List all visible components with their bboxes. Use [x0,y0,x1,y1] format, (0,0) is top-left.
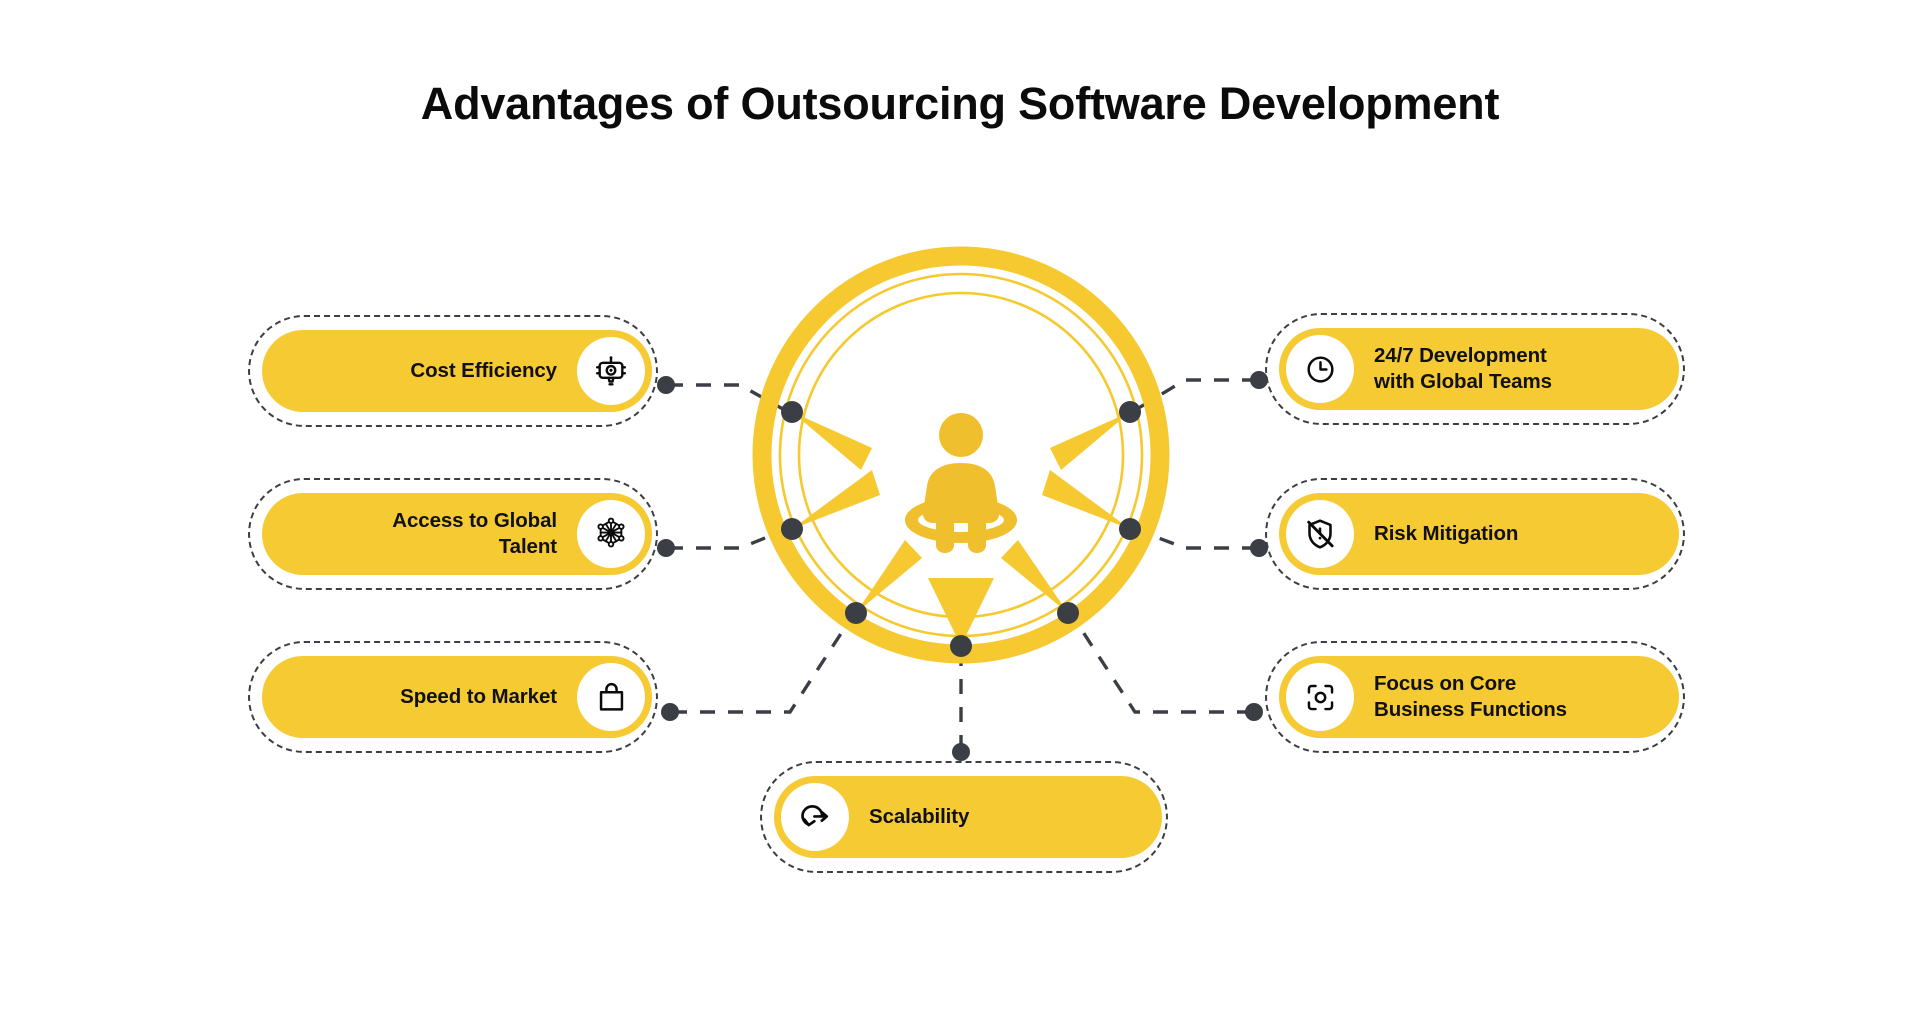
hub-node-dot [845,602,867,624]
node-label: Speed to Market [262,684,577,710]
infographic-canvas: Advantages of Outsourcing Software Devel… [0,0,1920,1011]
robot-automation-icon [577,337,645,405]
node-focus-on-core-business-functions[interactable]: Focus on Core Business Functions [1279,656,1679,738]
notch-marker [1001,540,1068,613]
clock-icon [1286,335,1354,403]
node-scalability[interactable]: Scalability [774,776,1162,858]
node-label: Access to Global Talent [262,508,577,560]
hub-node-dot [950,635,972,657]
endpoint-dot [657,376,675,394]
person-in-circle-icon [905,413,1017,553]
node-risk-mitigation[interactable]: Risk Mitigation [1279,493,1679,575]
node-label: Scalability [849,804,1162,830]
node-cost-efficiency[interactable]: Cost Efficiency [262,330,652,412]
node-speed-to-market[interactable]: Speed to Market [262,656,652,738]
endpoint-dot [657,539,675,557]
hub-node-dot [781,401,803,423]
hub-node-dot [1057,602,1079,624]
focus-scan-icon [1286,663,1354,731]
shopping-bag-icon [577,663,645,731]
endpoint-dot [952,743,970,761]
hub-node-dot [1119,518,1141,540]
node-label: Cost Efficiency [262,358,577,384]
node-label: 24/7 Development with Global Teams [1354,343,1679,395]
shield-alert-off-icon [1286,500,1354,568]
node-label: Focus on Core Business Functions [1354,671,1679,723]
connector-speed-to-market [672,612,855,712]
hub-node-dot [1119,401,1141,423]
expand-arrow-icon [781,783,849,851]
notch-marker [792,412,872,470]
endpoint-dot [1245,703,1263,721]
node-24-7-development-with-global-teams[interactable]: 24/7 Development with Global Teams [1279,328,1679,410]
node-label: Risk Mitigation [1354,521,1679,547]
endpoint-dot [661,703,679,721]
notch-marker [856,540,922,613]
hub-node-dot [781,518,803,540]
network-nodes-icon [577,500,645,568]
notch-marker [1050,412,1130,470]
node-access-to-global-talent[interactable]: Access to Global Talent [262,493,652,575]
connector-focus-on-core [1070,612,1252,712]
